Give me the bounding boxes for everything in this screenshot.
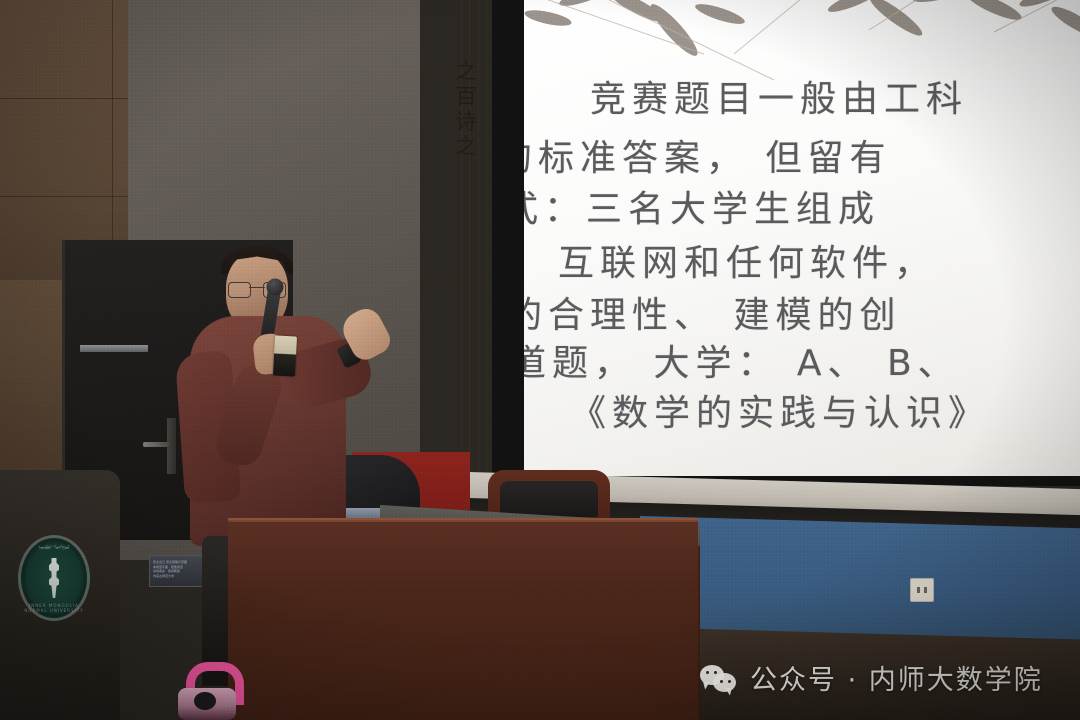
watermark-text: 公众号 · 内师大数学院 [750, 658, 1043, 697]
door-metal-plate [80, 345, 148, 352]
slide-line-7: 《数学的实践与认识》 [570, 384, 990, 436]
slide-line-1: 竞赛题目一般由工科 [590, 70, 968, 122]
watermark: 公众号 · 内师大数学院 [700, 658, 1043, 697]
name-badge [273, 335, 297, 376]
lecture-photo-scene: 之百诗之 [0, 0, 1080, 720]
projection-screen: 竞赛题目一般由工科 的标准答案， 但留有 式：三名大学生组成 互联网和任何软件，… [524, 0, 1080, 476]
slide-line-6: 道题， 大学： A、 B、 [524, 334, 960, 386]
emblem-mark-icon [49, 558, 59, 598]
door-handle[interactable] [167, 418, 176, 474]
wall-outlet-icon [910, 578, 934, 602]
slide-line-4: 互联网和任何软件， [558, 234, 936, 286]
emblem-bottom-text: INNER MONGOLIA NORMAL UNIVERSITY [21, 603, 87, 613]
university-emblem: ᠦᠪᠦᠷ ᠮᠣᠩᠭᠣᠯ INNER MONGOLIA NORMAL UNIVER… [18, 535, 90, 621]
lecture-podium [228, 522, 698, 720]
pink-toy-bag [176, 662, 238, 720]
slide-line-3: 式：三名大学生组成 [524, 180, 880, 232]
wood-column-inner [455, 0, 493, 520]
slide-text-block: 竞赛题目一般由工科 的标准答案， 但留有 式：三名大学生组成 互联网和任何软件，… [524, 0, 1080, 476]
emblem-top-text: ᠦᠪᠦᠷ ᠮᠣᠩᠭᠣᠯ [21, 543, 87, 551]
chair-cushion [500, 481, 598, 517]
wechat-icon [700, 665, 738, 691]
slide-line-5: 的合理性、 建模的创 [524, 286, 901, 338]
slide-line-2: 的标准答案， 但留有 [524, 129, 891, 181]
toy-face [194, 692, 216, 710]
